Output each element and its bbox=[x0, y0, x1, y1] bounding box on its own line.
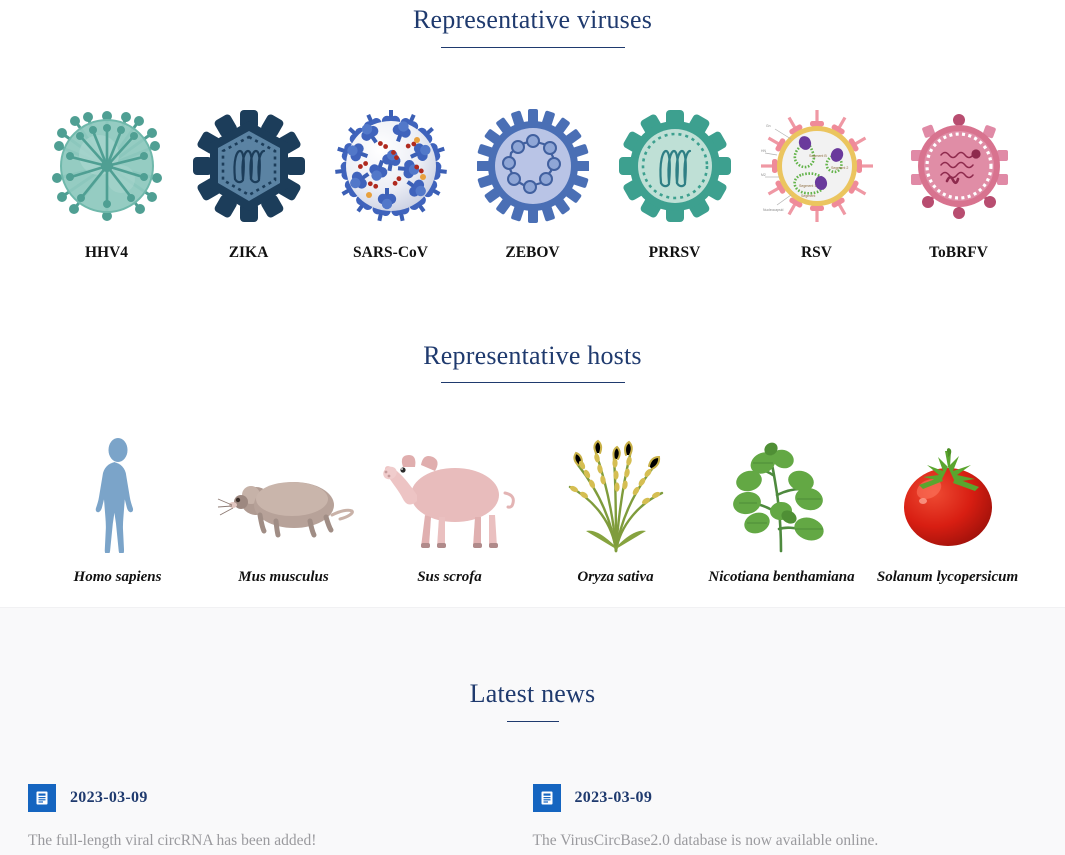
virus-label: ToBRFV bbox=[903, 244, 1015, 262]
virus-card-hhv4[interactable]: HHV4 bbox=[51, 106, 163, 262]
virus-hhv4-icon bbox=[51, 106, 163, 226]
virus-label: RSV bbox=[761, 244, 873, 262]
representative-viruses-section: Representative viruses bbox=[0, 0, 1065, 262]
host-card-solanum-lycopersicum[interactable]: Solanum lycopersicum bbox=[872, 435, 1024, 586]
virus-card-tobrfv[interactable]: ToBRFV bbox=[903, 106, 1015, 262]
svg-text:Segment 1: Segment 1 bbox=[799, 184, 816, 188]
pig-icon bbox=[374, 435, 526, 553]
viruses-section-title: Representative viruses bbox=[0, 6, 1065, 35]
virus-card-prrsv[interactable]: PRRSV bbox=[619, 106, 731, 262]
host-label: Solanum lycopersicum bbox=[872, 569, 1024, 586]
news-section-title: Latest news bbox=[0, 680, 1065, 709]
news-description[interactable]: The full-length viral circRNA has been a… bbox=[28, 832, 533, 850]
virus-zika-icon bbox=[193, 106, 305, 226]
host-label: Sus scrofa bbox=[374, 569, 526, 586]
svg-text:Nucleocapsid: Nucleocapsid bbox=[763, 208, 783, 212]
document-icon bbox=[533, 784, 561, 812]
news-item-header: 2023-03-09 bbox=[533, 784, 1038, 812]
latest-news-section: Latest news 2023-03-09 bbox=[0, 607, 1065, 855]
virus-label: ZEBOV bbox=[477, 244, 589, 262]
virus-card-rsv[interactable]: Segment B Segment 2 Segment 1 Segment Gn… bbox=[761, 106, 873, 262]
news-list: 2023-03-09 The full-length viral circRNA… bbox=[0, 784, 1065, 850]
human-silhouette-icon bbox=[42, 435, 194, 553]
host-label: Nicotiana benthamiana bbox=[706, 569, 858, 586]
news-item-header: 2023-03-09 bbox=[28, 784, 533, 812]
host-card-sus-scrofa[interactable]: Sus scrofa bbox=[374, 435, 526, 586]
svg-text:Segment B: Segment B bbox=[809, 154, 827, 158]
virus-label: ZIKA bbox=[193, 244, 305, 262]
news-item[interactable]: 2023-03-09 The full-length viral circRNA… bbox=[28, 784, 533, 850]
virus-label: PRRSV bbox=[619, 244, 731, 262]
virus-sarscov-icon bbox=[335, 106, 447, 226]
host-card-nicotiana-benthamiana[interactable]: Nicotiana benthamiana bbox=[706, 435, 858, 586]
document-icon bbox=[28, 784, 56, 812]
host-list: Homo sapiens bbox=[0, 435, 1065, 586]
virus-prrsv-icon bbox=[619, 106, 731, 226]
host-label: Oryza sativa bbox=[540, 569, 692, 586]
news-item[interactable]: 2023-03-09 The VirusCircBase2.0 database… bbox=[533, 784, 1038, 850]
host-card-homo-sapiens[interactable]: Homo sapiens bbox=[42, 435, 194, 586]
hosts-title-underline bbox=[441, 382, 625, 383]
svg-text:Segment 2: Segment 2 bbox=[831, 166, 848, 170]
virus-tobrfv-icon bbox=[903, 106, 1015, 226]
mouse-icon bbox=[208, 435, 360, 553]
virus-rsv-icon: Segment B Segment 2 Segment 1 Segment Gn… bbox=[761, 106, 873, 226]
virus-card-zebov[interactable]: ZEBOV bbox=[477, 106, 589, 262]
homepage: Representative viruses bbox=[0, 0, 1065, 855]
news-date: 2023-03-09 bbox=[575, 789, 653, 807]
rice-plant-icon bbox=[540, 435, 692, 553]
news-date: 2023-03-09 bbox=[70, 789, 148, 807]
host-label: Homo sapiens bbox=[42, 569, 194, 586]
tobacco-plant-icon bbox=[706, 435, 858, 553]
host-card-oryza-sativa[interactable]: Oryza sativa bbox=[540, 435, 692, 586]
hosts-section-title: Representative hosts bbox=[0, 342, 1065, 371]
virus-label: HHV4 bbox=[51, 244, 163, 262]
svg-text:M2: M2 bbox=[761, 173, 766, 177]
viruses-title-underline bbox=[441, 47, 625, 48]
virus-card-zika[interactable]: ZIKA bbox=[193, 106, 305, 262]
host-card-mus-musculus[interactable]: Mus musculus bbox=[208, 435, 360, 586]
svg-text:HN: HN bbox=[761, 149, 766, 153]
host-label: Mus musculus bbox=[208, 569, 360, 586]
virus-label: SARS-CoV bbox=[335, 244, 447, 262]
tomato-icon bbox=[872, 435, 1024, 553]
virus-list: HHV4 bbox=[0, 106, 1065, 262]
svg-text:Segment: Segment bbox=[801, 194, 815, 198]
virus-zebov-icon bbox=[477, 106, 589, 226]
news-title-underline bbox=[507, 721, 559, 722]
news-description[interactable]: The VirusCircBase2.0 database is now ava… bbox=[533, 832, 1038, 850]
representative-hosts-section: Representative hosts Homo sapiens bbox=[0, 342, 1065, 587]
virus-card-sarscov[interactable]: SARS-CoV bbox=[335, 106, 447, 262]
svg-text:Gn: Gn bbox=[766, 124, 771, 128]
